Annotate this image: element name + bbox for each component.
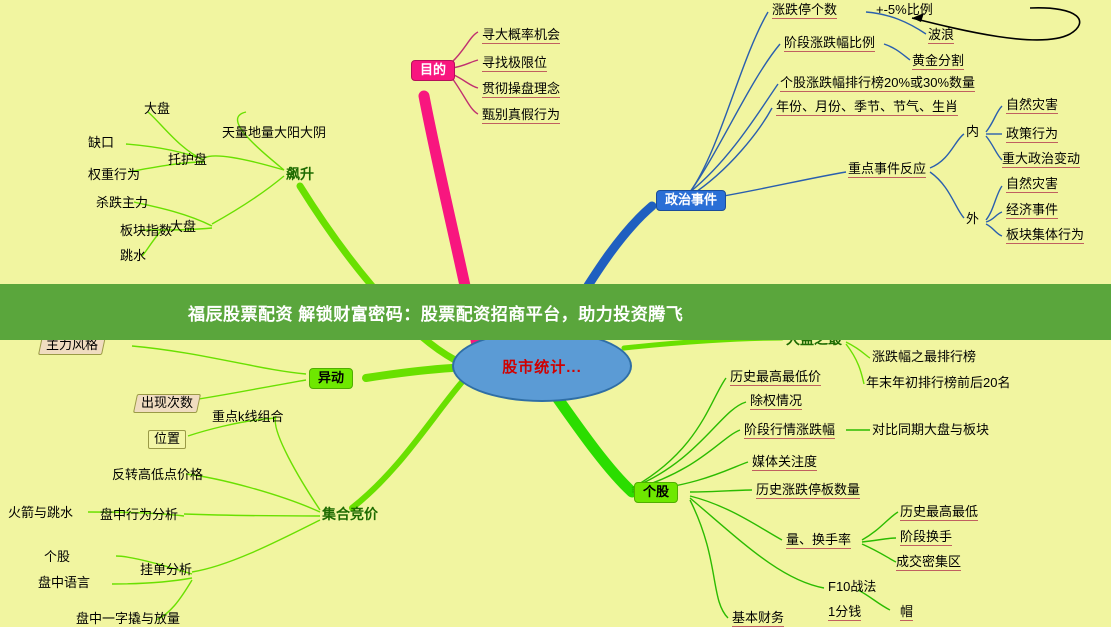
node-zhongda-zhengzhi-biandong: 重大政治变动	[1002, 152, 1080, 168]
node-chuquan-qingkuang: 除权情况	[750, 394, 802, 410]
node-quanzhong-xingwei: 托护盘	[168, 153, 207, 168]
node-xun-da-gailv: 寻大概率机会	[482, 28, 560, 44]
center-node-label: 股市统计...	[502, 356, 582, 377]
promo-banner: 福辰股票配资 解锁财富密码：股票配资招商平台，助力投资腾飞	[0, 284, 1111, 340]
node-lishi-zhangdieting-ban-shuliang: 历史涨跌停板数量	[756, 483, 860, 499]
mindmap-canvas: 股市统计... 目的 寻大概率机会 寻找极限位 贯彻操盘理念 甄别真假行为 政治…	[0, 0, 1111, 627]
node-meiti-guanzhudu: 媒体关注度	[752, 455, 817, 471]
node-jihe-jingjia: 个股	[44, 550, 70, 565]
node-shadie-zhuli: 权重行为	[88, 168, 140, 183]
node-zhengzhi-shijian: 板块集体行为	[1006, 228, 1084, 244]
node-gegu-right[interactable]: 个股	[634, 482, 678, 503]
node-jieduan-huanshou: 阶段换手	[900, 530, 952, 546]
node-bolang: 波浪	[928, 28, 954, 44]
node-pm5-bili: +-5%比例	[876, 3, 933, 18]
node-jingji-shijian: 经济事件	[1006, 203, 1058, 219]
node-xunzhao-jixian: 寻找极限位	[482, 56, 547, 72]
node-tianliang-diliang: 大盘	[144, 102, 170, 117]
node-dapan-left[interactable]: 飙升	[286, 166, 314, 182]
node-mao: 帽	[900, 605, 913, 621]
node-tiaoshui: 跳水	[120, 249, 146, 264]
node-duibi-tongqi-dapan-bankuai: 对比同期大盘与板块	[872, 423, 989, 438]
node-panzhong-xingwei-fenxi: 盘中行为分析	[100, 508, 178, 523]
node-ziran-zaihai-wai: 自然灾害	[1006, 177, 1058, 193]
node-ziran-zaihai-nei: 自然灾害	[1006, 98, 1058, 114]
node-nei: 内	[966, 125, 979, 140]
node-lishi-zuigao-zuidi: 历史最高最低	[900, 505, 978, 521]
node-huangjin-fenge: 黄金分割	[912, 54, 964, 70]
node-fanzhuan-gaodidian-jiage: 反转高低点价格	[112, 468, 203, 483]
node-lishi-zuigao-zuidi-jia: 历史最高最低价	[730, 370, 821, 386]
node-jieduan-hangqing-zhangdiefu: 阶段行情涨跌幅	[744, 423, 835, 439]
node-nianfen-yuefen-jijie: 年份、月份、季节、节气、生肖	[776, 100, 958, 116]
node-f10-zhanfa: F10战法	[828, 580, 876, 595]
node-wai: 外	[966, 212, 979, 227]
node-panzhong-yuyan: 盘中语言	[38, 576, 90, 591]
node-zhongdian-kxian-zuhe: 重点k线组合	[212, 410, 284, 425]
node-zhenbie-zhenjia: 甄别真假行为	[482, 108, 560, 124]
node-1fenqian: 1分钱	[828, 605, 861, 621]
node-zhangdieting-gshu: 涨跌停个数	[772, 3, 837, 19]
node-nianmo-nianchu-paihangbang: 年末年初排行榜前后20名	[866, 376, 1010, 391]
node-zhongdian-shijian-fanying: 重点事件反应	[848, 162, 926, 178]
node-zhangdiefu-zhizui-paihangbang: 涨跌幅之最排行榜	[872, 350, 976, 365]
node-bankuai-zhishu: 杀跌主力	[96, 196, 148, 211]
node-dapan-right[interactable]: 政治事件	[656, 190, 726, 211]
node-mudi[interactable]: 目的	[411, 60, 455, 81]
node-tuohupan: 缺口	[88, 136, 114, 151]
node-panzhong-yizi-qiao: 盘中一字撬与放量	[76, 612, 180, 627]
node-quekou: 天量地量大阳大阴	[222, 126, 326, 141]
node-liang-huanshoulv: 量、换手率	[786, 533, 851, 549]
node-gegu-left[interactable]: 集合竞价	[322, 506, 378, 522]
node-gegu-paihangbang-shuliang: 个股涨跌幅排行榜20%或30%数量	[780, 76, 975, 92]
promo-banner-text: 福辰股票配资 解锁财富密码：股票配资招商平台，助力投资腾飞	[188, 300, 683, 325]
node-bankuai-jiti-xingwei: 大盘	[170, 220, 196, 235]
node-guadan-fenxi: 挂单分析	[140, 563, 192, 578]
node-jieduan-zhangdiefu-bili: 阶段涨跌幅比例	[784, 36, 875, 52]
node-weizhi: 位置	[148, 430, 186, 449]
node-biaosheng: 板块指数	[120, 224, 172, 239]
node-zhengce-xingwei: 政策行为	[1006, 127, 1058, 143]
node-huojian-yu-tiaoshui: 火箭与跳水	[8, 506, 73, 521]
node-yidong[interactable]: 异动	[309, 368, 353, 389]
node-chengjiao-mijiqu: 成交密集区	[896, 555, 961, 571]
node-chuxian-cishu: 出现次数	[133, 394, 201, 413]
node-guanche-caopan-linian: 贯彻操盘理念	[482, 82, 560, 98]
node-jiben-caiwu: 基本财务	[732, 611, 784, 627]
center-node[interactable]: 股市统计...	[452, 330, 632, 402]
